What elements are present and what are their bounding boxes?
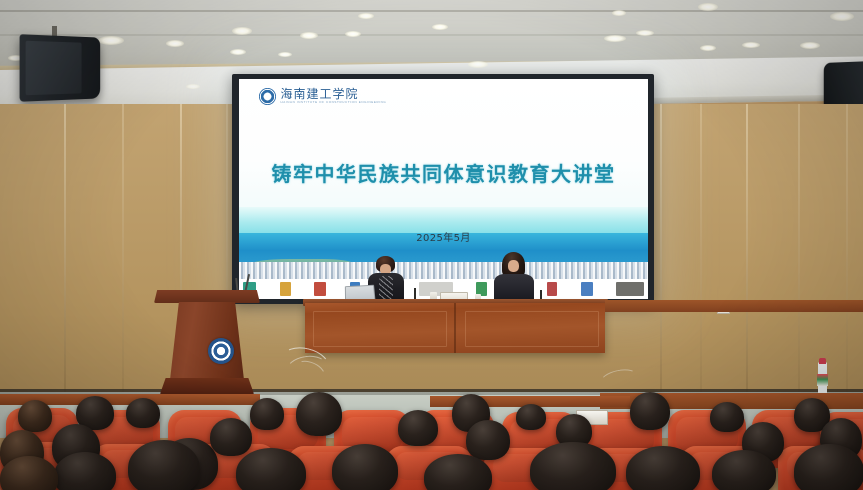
wall-seam (122, 104, 124, 394)
university-crest-icon (208, 338, 234, 364)
podium[interactable] (154, 290, 260, 398)
audience-head (250, 398, 284, 430)
audience-head-foreground (332, 444, 398, 490)
wall-seam (700, 104, 702, 394)
university-seal-icon (259, 88, 276, 105)
ceiling-downlight (345, 31, 361, 37)
audience-head-foreground (794, 444, 863, 490)
ceiling-downlight (166, 40, 184, 47)
audience-head (210, 418, 252, 456)
footer-logo-9 (547, 282, 557, 295)
bottle-label (817, 374, 828, 386)
wall-seam (660, 104, 662, 394)
footer-logo-2 (280, 282, 291, 295)
side-desk (605, 300, 863, 312)
slide-title: 铸牢中华民族共同体意识教育大讲堂 (239, 158, 648, 187)
table-seam (454, 303, 456, 353)
wall-seam (798, 104, 800, 394)
ceiling-downlight (830, 12, 854, 21)
footer-logo-11 (616, 282, 644, 295)
audience-head-foreground (236, 448, 306, 490)
slide-logo-text: 海南建工学院 (280, 88, 386, 100)
slide-logo-subtext: HAINAN INSTITUTE OF CONSTRUCTION ENGINEE… (280, 100, 386, 104)
podium-body (170, 302, 244, 380)
wall-seam (746, 104, 748, 394)
ceiling-downlight (432, 24, 448, 30)
audience-head (18, 400, 52, 432)
audience-head (296, 392, 342, 436)
ceiling-seam (0, 34, 863, 36)
audience-head (516, 404, 546, 430)
podium-top-surface (154, 290, 260, 303)
ceiling-downlight (698, 3, 718, 11)
slide-date: 2025年5月 (239, 229, 648, 244)
audience-head (710, 402, 744, 432)
footer-logo-10 (581, 282, 593, 295)
ceiling-downlight (186, 84, 200, 89)
ceiling-downlight (800, 42, 820, 49)
ceiling-downlight (278, 52, 292, 57)
ceiling-downlight (358, 13, 374, 19)
podium-base (160, 378, 254, 394)
ceiling-downlight (700, 45, 716, 51)
speaker-left-garment-pattern (379, 276, 393, 300)
wall-seam (64, 104, 66, 394)
speaker-right (493, 252, 535, 304)
ceiling-downlight (604, 35, 626, 42)
ceiling-downlight (468, 61, 488, 68)
footer-logo-3 (314, 282, 326, 295)
projection-screen[interactable]: 海南建工学院 HAINAN INSTITUTE OF CONSTRUCTION … (239, 79, 648, 299)
wall-seam (846, 104, 848, 394)
table-panel (465, 311, 599, 347)
ceiling-seam (0, 10, 863, 12)
audience-head (398, 410, 438, 446)
audience-head (630, 392, 670, 430)
ceiling-downlight (98, 36, 124, 45)
ceiling-speaker-left (20, 34, 101, 102)
audience-head (126, 398, 160, 428)
ceiling-downlight (636, 30, 654, 36)
audience-head-foreground (128, 440, 200, 490)
ceiling-downlight (742, 42, 760, 48)
speaker-right-face (508, 260, 519, 272)
audience-head-foreground (712, 450, 776, 490)
table-panel (313, 311, 447, 347)
audience-head-foreground (626, 446, 700, 490)
ceiling-downlight (612, 10, 626, 16)
audience-head-foreground (530, 442, 616, 490)
audience-head (466, 420, 510, 460)
ceiling-downlight (230, 49, 246, 55)
audience-head-foreground (54, 452, 116, 490)
slide-organization-logo: 海南建工学院 HAINAN INSTITUTE OF CONSTRUCTION … (259, 88, 386, 105)
ceiling-downlight (300, 32, 318, 39)
bottle-cap (819, 358, 826, 364)
head-table (305, 303, 605, 353)
ceiling-downlight (232, 27, 252, 35)
lecture-hall-photo: 海南建工学院 HAINAN INSTITUTE OF CONSTRUCTION … (0, 0, 863, 490)
